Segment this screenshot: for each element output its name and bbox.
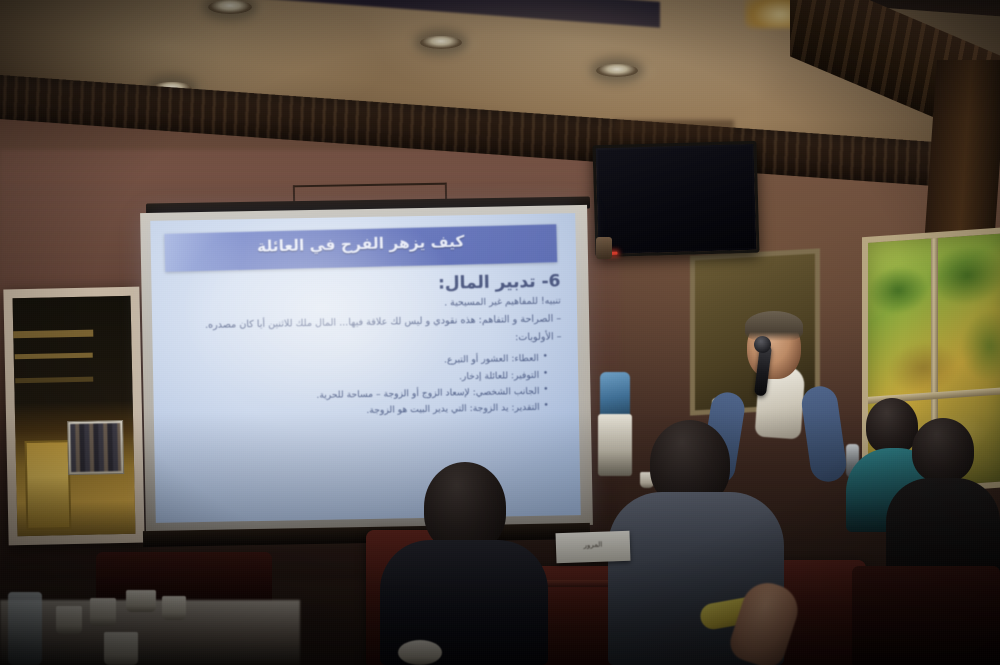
slide-point-one: – الصراحة و التفاهم: هذه نقودي و ليس لك … xyxy=(169,312,561,334)
chair xyxy=(852,566,1000,665)
interior-doorway xyxy=(25,440,71,531)
water-jug xyxy=(600,372,630,418)
water-bottle xyxy=(8,592,42,665)
slide-body: 6- تدبير المال: تنبيه! للمفاهيم غير المس… xyxy=(168,271,563,422)
water-dispenser xyxy=(598,414,632,476)
table-placard: المرور xyxy=(555,531,630,564)
projection-screen: كيف يزهر الفرح في العائلة 6- تدبير المال… xyxy=(143,200,590,545)
cup xyxy=(162,596,186,620)
table-placard-text: المرور xyxy=(556,540,630,551)
saucer xyxy=(126,590,156,612)
slide-intro-text: تنبيه! للمفاهيم غير المسيحية . xyxy=(169,294,561,315)
wall-sensor-icon xyxy=(596,237,612,259)
mug xyxy=(104,632,138,665)
audience-head xyxy=(866,398,918,454)
slide-title: كيف يزهر الفرح في العائلة xyxy=(165,230,557,258)
ceiling-spotlight-icon xyxy=(596,64,638,77)
presenter-raised-hand xyxy=(784,376,814,410)
screen-canvas: كيف يزهر الفرح في العائلة 6- تدبير المال… xyxy=(150,213,580,523)
audience-head xyxy=(424,462,506,552)
slide-bullet-list: العطاء: العشور أو التبرع. التوفير: للعائ… xyxy=(170,351,563,423)
plate xyxy=(398,640,442,665)
audience-head xyxy=(912,418,974,482)
presenter-hair xyxy=(745,311,803,341)
slide-point-two: – الأولويات: xyxy=(169,330,561,352)
tv-screen xyxy=(598,146,755,252)
ceiling-spotlight-icon xyxy=(420,36,462,49)
wall-television xyxy=(592,141,759,258)
presentation-room-photo: كيف يزهر الفرح في العائلة 6- تدبير المال… xyxy=(0,0,1000,665)
ceiling-spotlight-icon xyxy=(208,0,252,14)
cup xyxy=(56,606,82,634)
slide-title-bar: كيف يزهر الفرح في العائلة xyxy=(164,224,557,272)
presentation-slide: كيف يزهر الفرح في العائلة 6- تدبير المال… xyxy=(150,213,580,523)
interior-window-left xyxy=(3,287,144,546)
cup xyxy=(90,598,116,626)
wall-poster xyxy=(67,420,124,476)
wall-poster-image xyxy=(70,423,121,472)
